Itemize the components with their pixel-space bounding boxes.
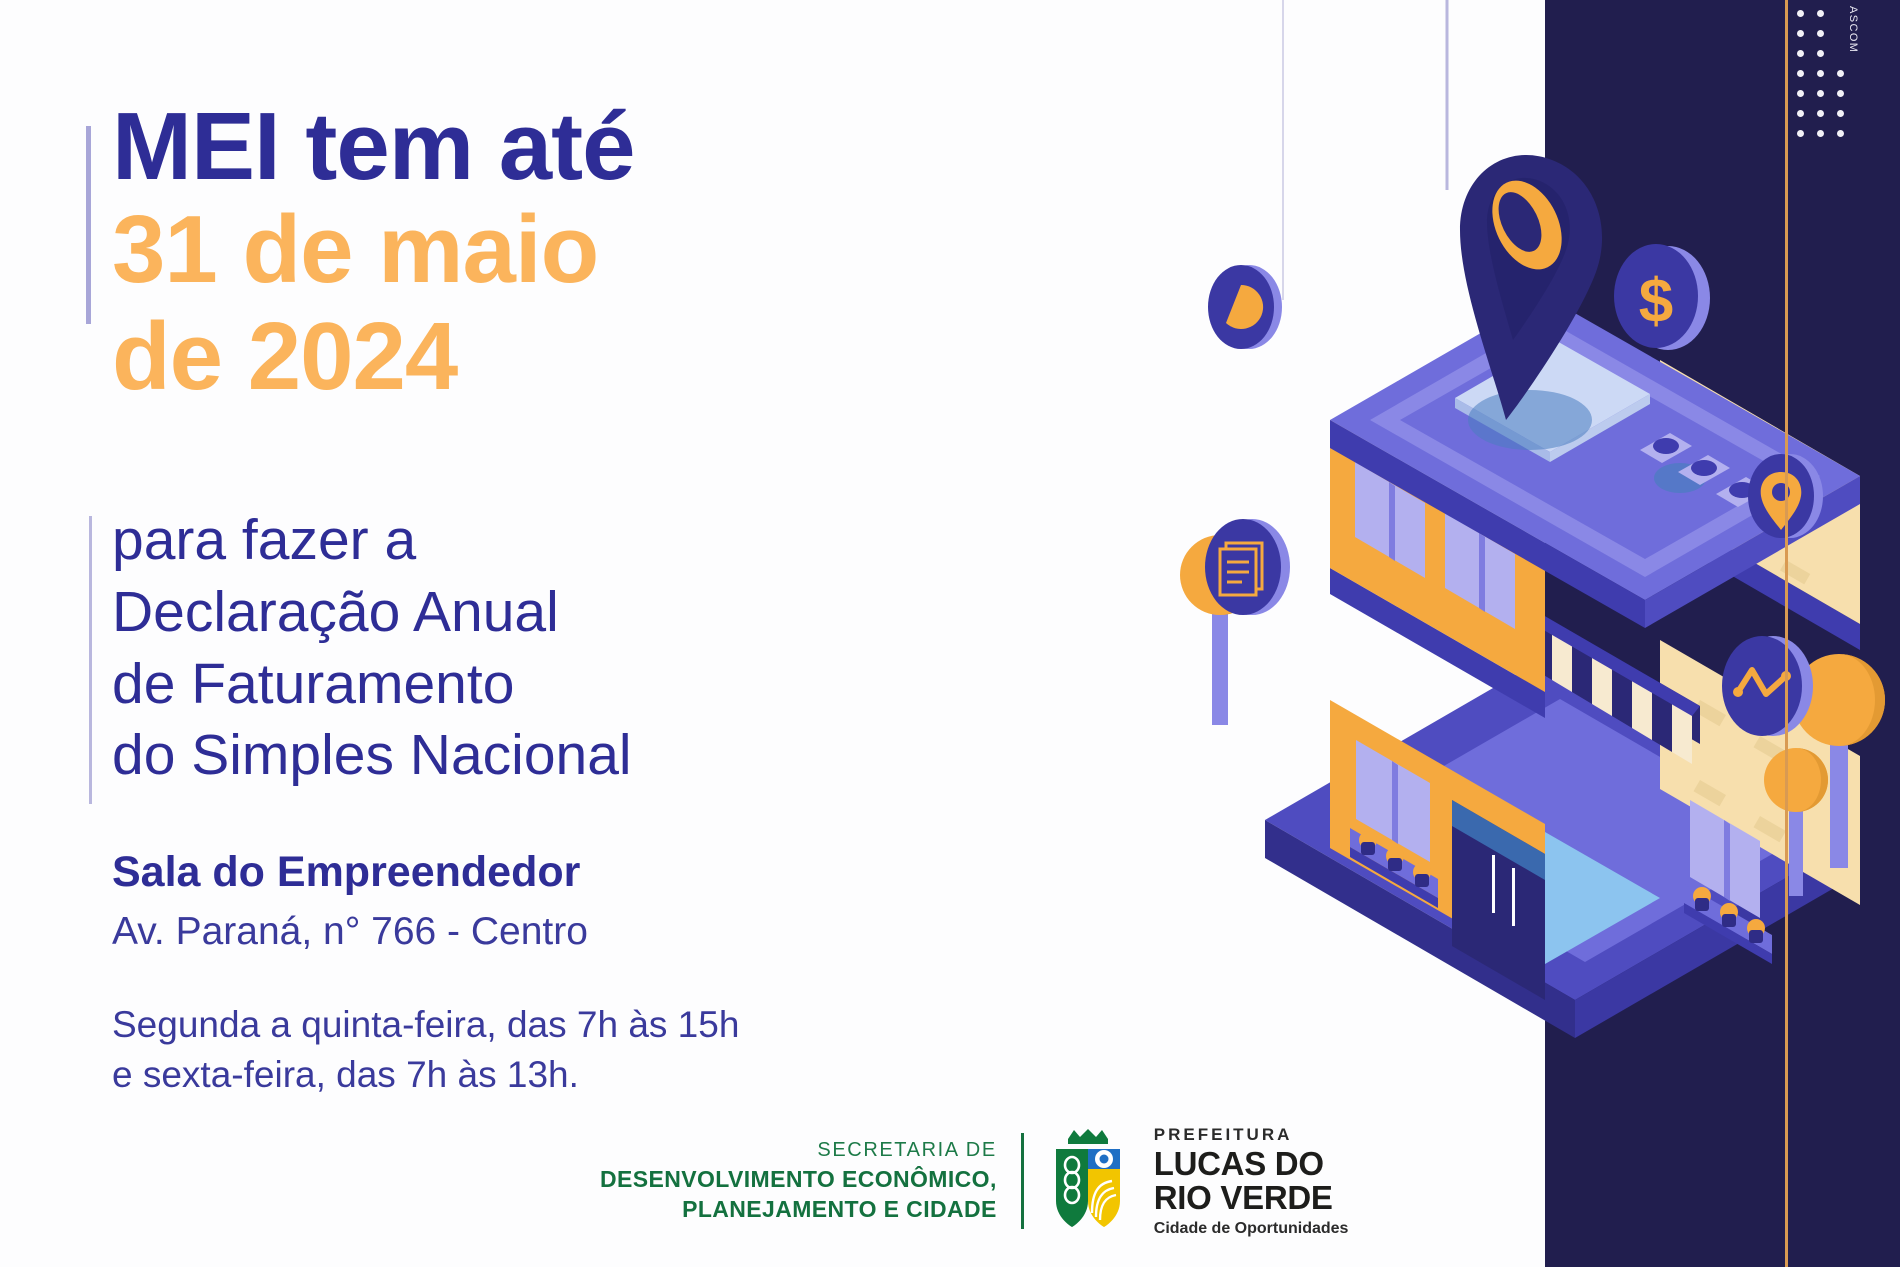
ascom-watermark: ASCOM	[1847, 6, 1859, 53]
hours-line-2: e sexta-feira, das 7h às 13h.	[112, 1050, 739, 1100]
headline-block: MEI tem até 31 de maio de 2024	[112, 98, 1012, 411]
hours-line-1: Segunda a quinta-feira, das 7h às 15h	[112, 1000, 739, 1050]
headline-line-3: de 2024	[112, 303, 1012, 411]
dark-panel: ASCOM	[1445, 0, 1900, 1267]
footer-divider	[1021, 1133, 1024, 1229]
subtext-line-2: Declaração Anual	[112, 577, 892, 649]
subtext-line-1: para fazer a	[112, 505, 892, 577]
city-crest-icon	[1048, 1127, 1140, 1235]
headline-line-2: 31 de maio	[112, 196, 1012, 304]
secretariat-line-1: SECRETARIA DE	[600, 1139, 997, 1162]
headline-accent-bar	[86, 126, 91, 324]
city-line-4: Cidade de Oportunidades	[1154, 1220, 1349, 1238]
city-line-3: RIO VERDE	[1154, 1181, 1349, 1215]
orange-vertical-rule	[1785, 0, 1788, 1267]
venue-name: Sala do Empreendedor	[112, 848, 580, 897]
document-badge	[1205, 519, 1290, 615]
secretariat-logo: SECRETARIA DE DESENVOLVIMENTO ECONÔMICO,…	[600, 1139, 997, 1223]
subtext-accent-bar	[89, 516, 92, 804]
city-hall-logo: PREFEITURA LUCAS DO RIO VERDE Cidade de …	[1048, 1125, 1349, 1238]
opening-hours: Segunda a quinta-feira, das 7h às 15h e …	[112, 1000, 739, 1099]
poster-canvas: $ ASCOM	[0, 0, 1900, 1267]
headline-line-1: MEI tem até	[112, 98, 1012, 196]
subtext-line-3: de Faturamento	[112, 649, 892, 721]
secretariat-line-3: PLANEJAMENTO E CIDADE	[600, 1196, 997, 1223]
venue-address: Av. Paraná, n° 766 - Centro	[112, 910, 588, 954]
pie-chart-badge	[1208, 265, 1282, 349]
city-line-2: LUCAS DO	[1154, 1147, 1349, 1181]
subtext-line-4: do Simples Nacional	[112, 720, 892, 792]
city-hall-wordmark: PREFEITURA LUCAS DO RIO VERDE Cidade de …	[1154, 1125, 1349, 1238]
footer-logos: SECRETARIA DE DESENVOLVIMENTO ECONÔMICO,…	[600, 1125, 1348, 1238]
secretariat-line-2: DESENVOLVIMENTO ECONÔMICO,	[600, 1166, 997, 1193]
city-line-1: PREFEITURA	[1154, 1125, 1349, 1145]
subtext-block: para fazer a Declaração Anual de Faturam…	[112, 505, 892, 792]
